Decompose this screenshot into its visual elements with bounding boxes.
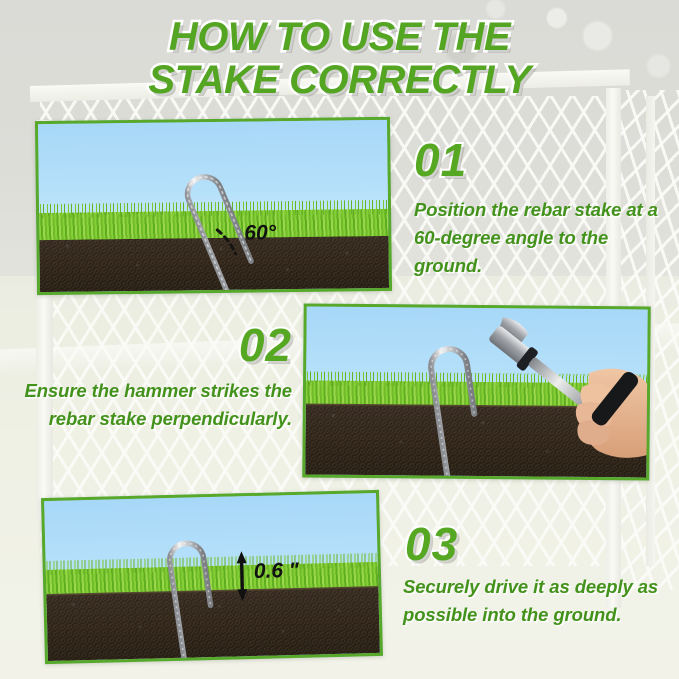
- step-1-description: Position the rebar stake at a 60-degree …: [414, 196, 664, 280]
- step-3-image-panel: 0.6 ": [41, 490, 383, 664]
- page-title-line-2: STAKE CORRECTLY: [0, 59, 679, 102]
- step-2-description: Ensure the hammer strikes the rebar stak…: [18, 377, 292, 433]
- infographic-root: HOW TO USE THE STAKE CORRECTLY: [0, 0, 679, 679]
- step-2-number: 02: [0, 318, 292, 372]
- angle-annotation-60-degrees: 60°: [244, 221, 276, 245]
- step-1-image-panel: 60°: [35, 117, 392, 295]
- page-title: HOW TO USE THE STAKE CORRECTLY: [0, 16, 679, 102]
- panel-3-stake-depth-graphic: [44, 493, 383, 664]
- step-3-number: 03: [405, 517, 458, 571]
- hand-graphic: [575, 368, 650, 458]
- step-2-image-panel: [302, 303, 651, 480]
- step-1-number: 01: [414, 133, 467, 187]
- page-title-line-1: HOW TO USE THE: [0, 16, 679, 59]
- step-3-description: Securely drive it as deeply as possible …: [403, 573, 669, 629]
- depth-annotation-0-6-inch: 0.6 ": [254, 559, 300, 584]
- panel-1-stake-graphic: [38, 120, 392, 295]
- panel-2-hammer-graphic: [305, 307, 651, 481]
